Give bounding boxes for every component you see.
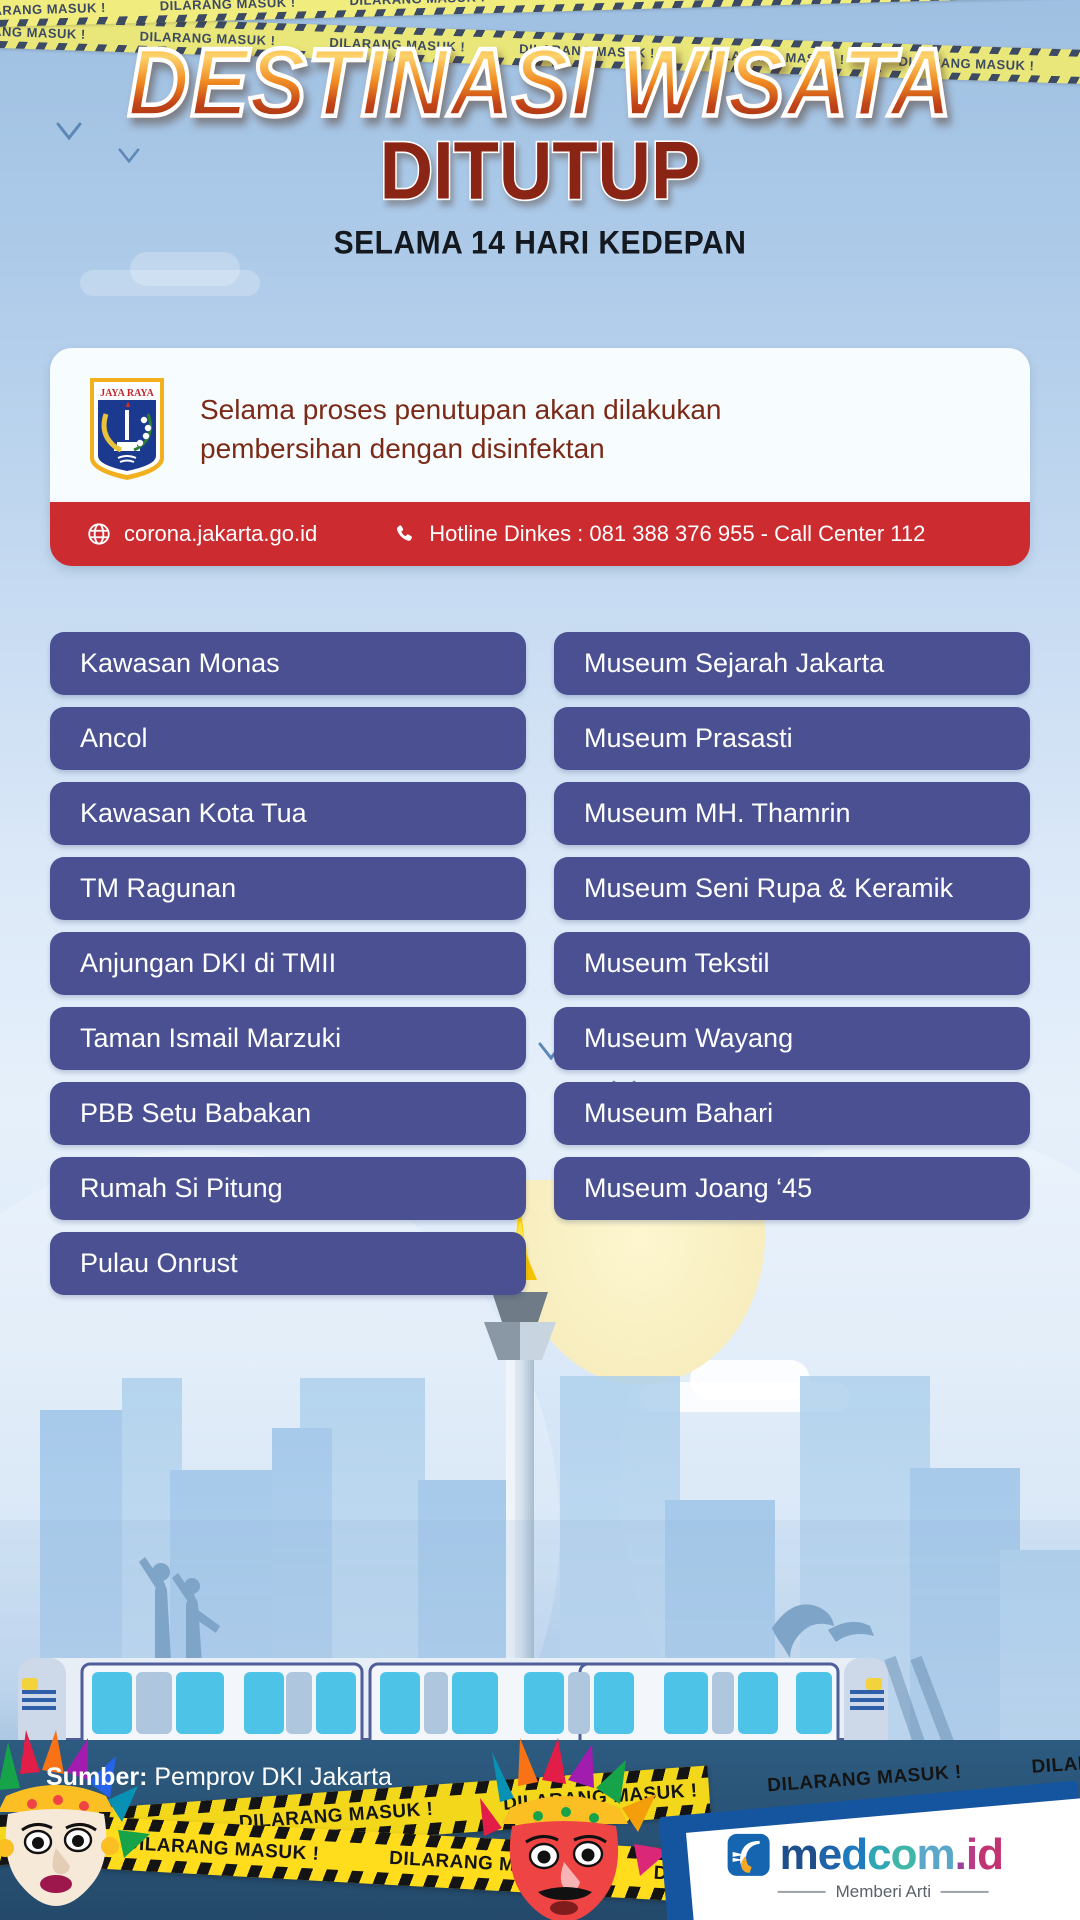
hotline-contact[interactable]: Hotline Dinkes : 081 388 376 955 - Call … [317,521,925,547]
destination-label: TM Ragunan [80,873,236,904]
tagline-text: Memberi Arti [836,1882,931,1902]
logo-letter: d [977,1830,1003,1880]
logo-letter: m [917,1830,955,1880]
destination-column-left: Kawasan MonasAncolKawasan Kota TuaTM Rag… [50,632,526,1295]
notice-text: Selama proses penutupan akan dilakukan p… [200,390,721,468]
destination-chip[interactable]: Anjungan DKI di TMII [50,932,526,995]
title-subtitle: SELAMA 14 HARI KEDEPAN [0,226,1080,263]
logo-letter: m [780,1830,818,1880]
contact-bar: corona.jakarta.go.id Hotline Dinkes : 08… [50,502,1030,566]
destination-chip[interactable]: PBB Setu Babakan [50,1082,526,1145]
logo-letter: c [867,1830,890,1880]
title-line-1: DESTINASI WISATA [0,35,1080,133]
medcom-tagline: Memberi Arti [778,1882,1080,1902]
destination-label: Kawasan Kota Tua [80,798,307,829]
poster-title-block: DESTINASI WISATA DITUTUP SELAMA 14 HARI … [0,40,1080,261]
destination-label: Museum Bahari [584,1098,773,1129]
destination-chip[interactable]: Museum Prasasti [554,707,1030,770]
destination-chip[interactable]: Museum Bahari [554,1082,1030,1145]
destination-chip[interactable]: Pulau Onrust [50,1232,526,1295]
destination-label: Museum Sejarah Jakarta [584,648,884,679]
medcom-wordmark: medcom.id [780,1830,1003,1880]
notice-text-line-1: Selama proses penutupan akan dilakukan [200,390,721,429]
eagle-icon [726,1832,772,1878]
source-credit: Sumber: Pemprov DKI Jakarta [46,1763,392,1792]
destination-chip[interactable]: Museum Seni Rupa & Keramik [554,857,1030,920]
notice-card: JAYA RAYA Selama proses penutupan akan d… [50,348,1030,510]
notice-text-line-2: pembersihan dengan disinfektan [200,429,721,468]
medcom-id-logo: medcom.id Memberi Arti [726,1830,1080,1920]
source-label: Sumber: [46,1763,147,1791]
destination-chip[interactable]: Museum MH. Thamrin [554,782,1030,845]
destination-label: Pulau Onrust [80,1248,238,1279]
tagline-rule-left [778,1891,826,1893]
destination-label: Ancol [80,723,148,754]
destination-column-right: Museum Sejarah JakartaMuseum PrasastiMus… [554,632,1030,1295]
destination-label: Taman Ismail Marzuki [80,1023,341,1054]
logo-letter: i [966,1830,977,1880]
destination-chip[interactable]: Kawasan Monas [50,632,526,695]
destination-chip[interactable]: Museum Tekstil [554,932,1030,995]
tape-label: DILARANG MASUK ! [160,0,296,13]
destination-label: PBB Setu Babakan [80,1098,311,1129]
dki-jakarta-emblem: JAYA RAYA [84,374,170,484]
logo-letter: o [891,1830,917,1880]
destination-label: Anjungan DKI di TMII [80,948,336,979]
destination-chip[interactable]: Kawasan Kota Tua [50,782,526,845]
destination-chip[interactable]: Museum Wayang [554,1007,1030,1070]
tagline-rule-right [941,1891,989,1893]
hotline-text: Hotline Dinkes : 081 388 376 955 - Call … [429,521,925,547]
phone-icon [393,522,417,546]
website-url: corona.jakarta.go.id [124,521,317,547]
destination-label: Museum Prasasti [584,723,793,754]
ondel-ondel-white-mask [0,1730,170,1910]
infographic-poster: DILARANG MASUK !DILARANG MASUK !DILARANG… [0,0,1080,1920]
destination-label: Museum Joang ‘45 [584,1173,812,1204]
logo-letter: . [955,1830,966,1880]
source-value: Pemprov DKI Jakarta [154,1763,392,1791]
destination-chip[interactable]: TM Ragunan [50,857,526,920]
destination-chip[interactable]: Museum Joang ‘45 [554,1157,1030,1220]
globe-icon [86,521,112,547]
destination-chip[interactable]: Ancol [50,707,526,770]
destination-chip[interactable]: Taman Ismail Marzuki [50,1007,526,1070]
destination-label: Museum Seni Rupa & Keramik [584,873,953,904]
destination-label: Kawasan Monas [80,648,280,679]
destination-label: Museum MH. Thamrin [584,798,851,829]
title-line-2: DITUTUP [0,128,1080,213]
destination-label: Museum Wayang [584,1023,793,1054]
destination-chip[interactable]: Museum Sejarah Jakarta [554,632,1030,695]
tape-label: DILARANG MASUK ! [0,0,106,18]
destination-label: Rumah Si Pitung [80,1173,283,1204]
destination-chip[interactable]: Rumah Si Pitung [50,1157,526,1220]
website-contact[interactable]: corona.jakarta.go.id [50,521,317,547]
emblem-motto: JAYA RAYA [100,388,155,399]
logo-letter: d [841,1830,867,1880]
destination-label: Museum Tekstil [584,948,770,979]
logo-letter: e [818,1830,841,1880]
destination-lists: Kawasan MonasAncolKawasan Kota TuaTM Rag… [0,632,1080,1295]
